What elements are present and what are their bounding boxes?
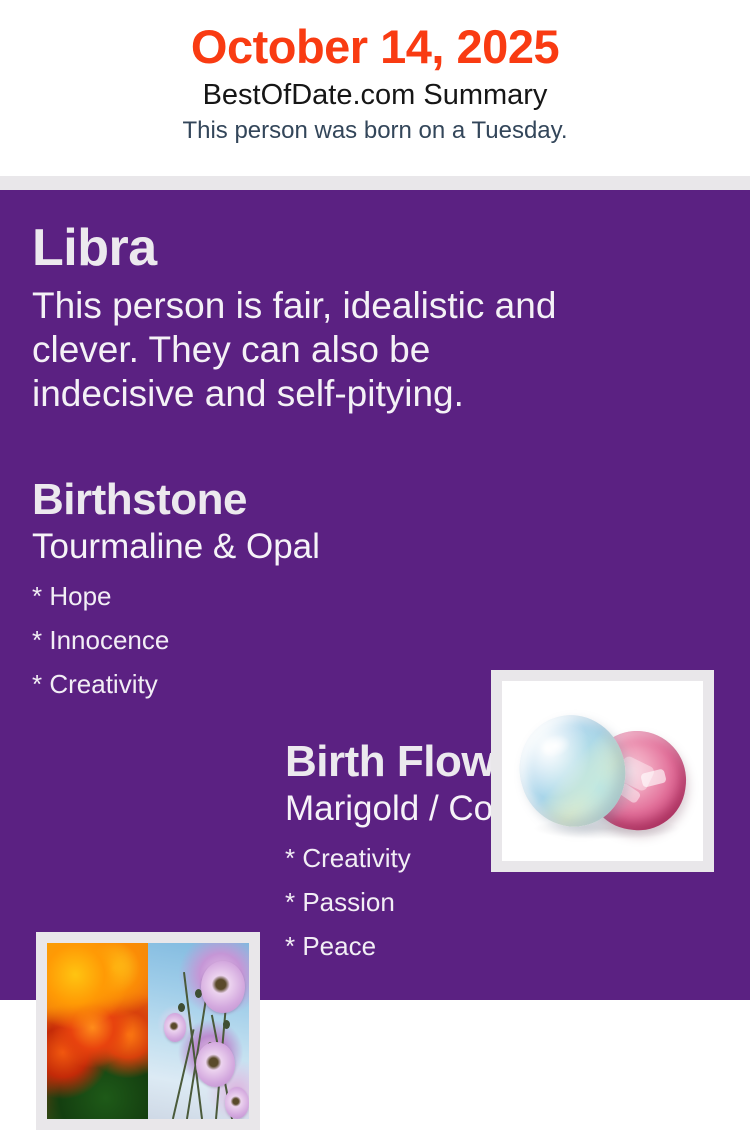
zodiac-section: Libra This person is fair, idealistic an… [32, 218, 632, 416]
birthstone-image [502, 681, 703, 861]
marigold-photo-half [47, 943, 148, 1119]
cosmos-flower-icon [164, 1013, 186, 1041]
zodiac-sign-name: Libra [32, 218, 632, 278]
details-panel: Libra This person is fair, idealistic an… [0, 190, 750, 1000]
list-item: * Peace [285, 924, 725, 968]
birthstone-title: Birthstone [32, 474, 472, 526]
cosmos-photo-half [148, 943, 249, 1119]
cosmos-flower-icon [201, 961, 245, 1014]
cosmos-flower-icon [196, 1042, 234, 1088]
born-on-day-text: This person was born on a Tuesday. [0, 114, 750, 147]
cosmos-flower-icon [225, 1087, 249, 1119]
list-item: * Hope [32, 574, 472, 618]
list-item: * Creativity [32, 662, 472, 706]
page-title-date: October 14, 2025 [0, 18, 750, 76]
birthstone-trait-list: * Hope * Innocence * Creativity [32, 574, 472, 706]
gemstone-illustration [502, 681, 703, 861]
zodiac-description: This person is fair, idealistic and clev… [32, 284, 602, 416]
summary-card: October 14, 2025 BestOfDate.com Summary … [0, 0, 750, 1000]
flower-bud [178, 1003, 185, 1012]
birth-flower-image [47, 943, 249, 1119]
birthstone-section: Birthstone Tourmaline & Opal * Hope * In… [32, 474, 472, 706]
list-item: * Innocence [32, 618, 472, 662]
header: October 14, 2025 BestOfDate.com Summary … [0, 0, 750, 176]
list-item: * Passion [285, 880, 725, 924]
site-summary-label: BestOfDate.com Summary [0, 76, 750, 114]
birthstone-names: Tourmaline & Opal [32, 526, 472, 568]
flower-illustration [47, 943, 249, 1119]
flower-bud [223, 1020, 230, 1029]
stem [172, 1030, 195, 1119]
header-divider [0, 176, 750, 190]
birthstone-image-frame [491, 670, 714, 872]
birth-flower-image-frame [36, 932, 260, 1130]
